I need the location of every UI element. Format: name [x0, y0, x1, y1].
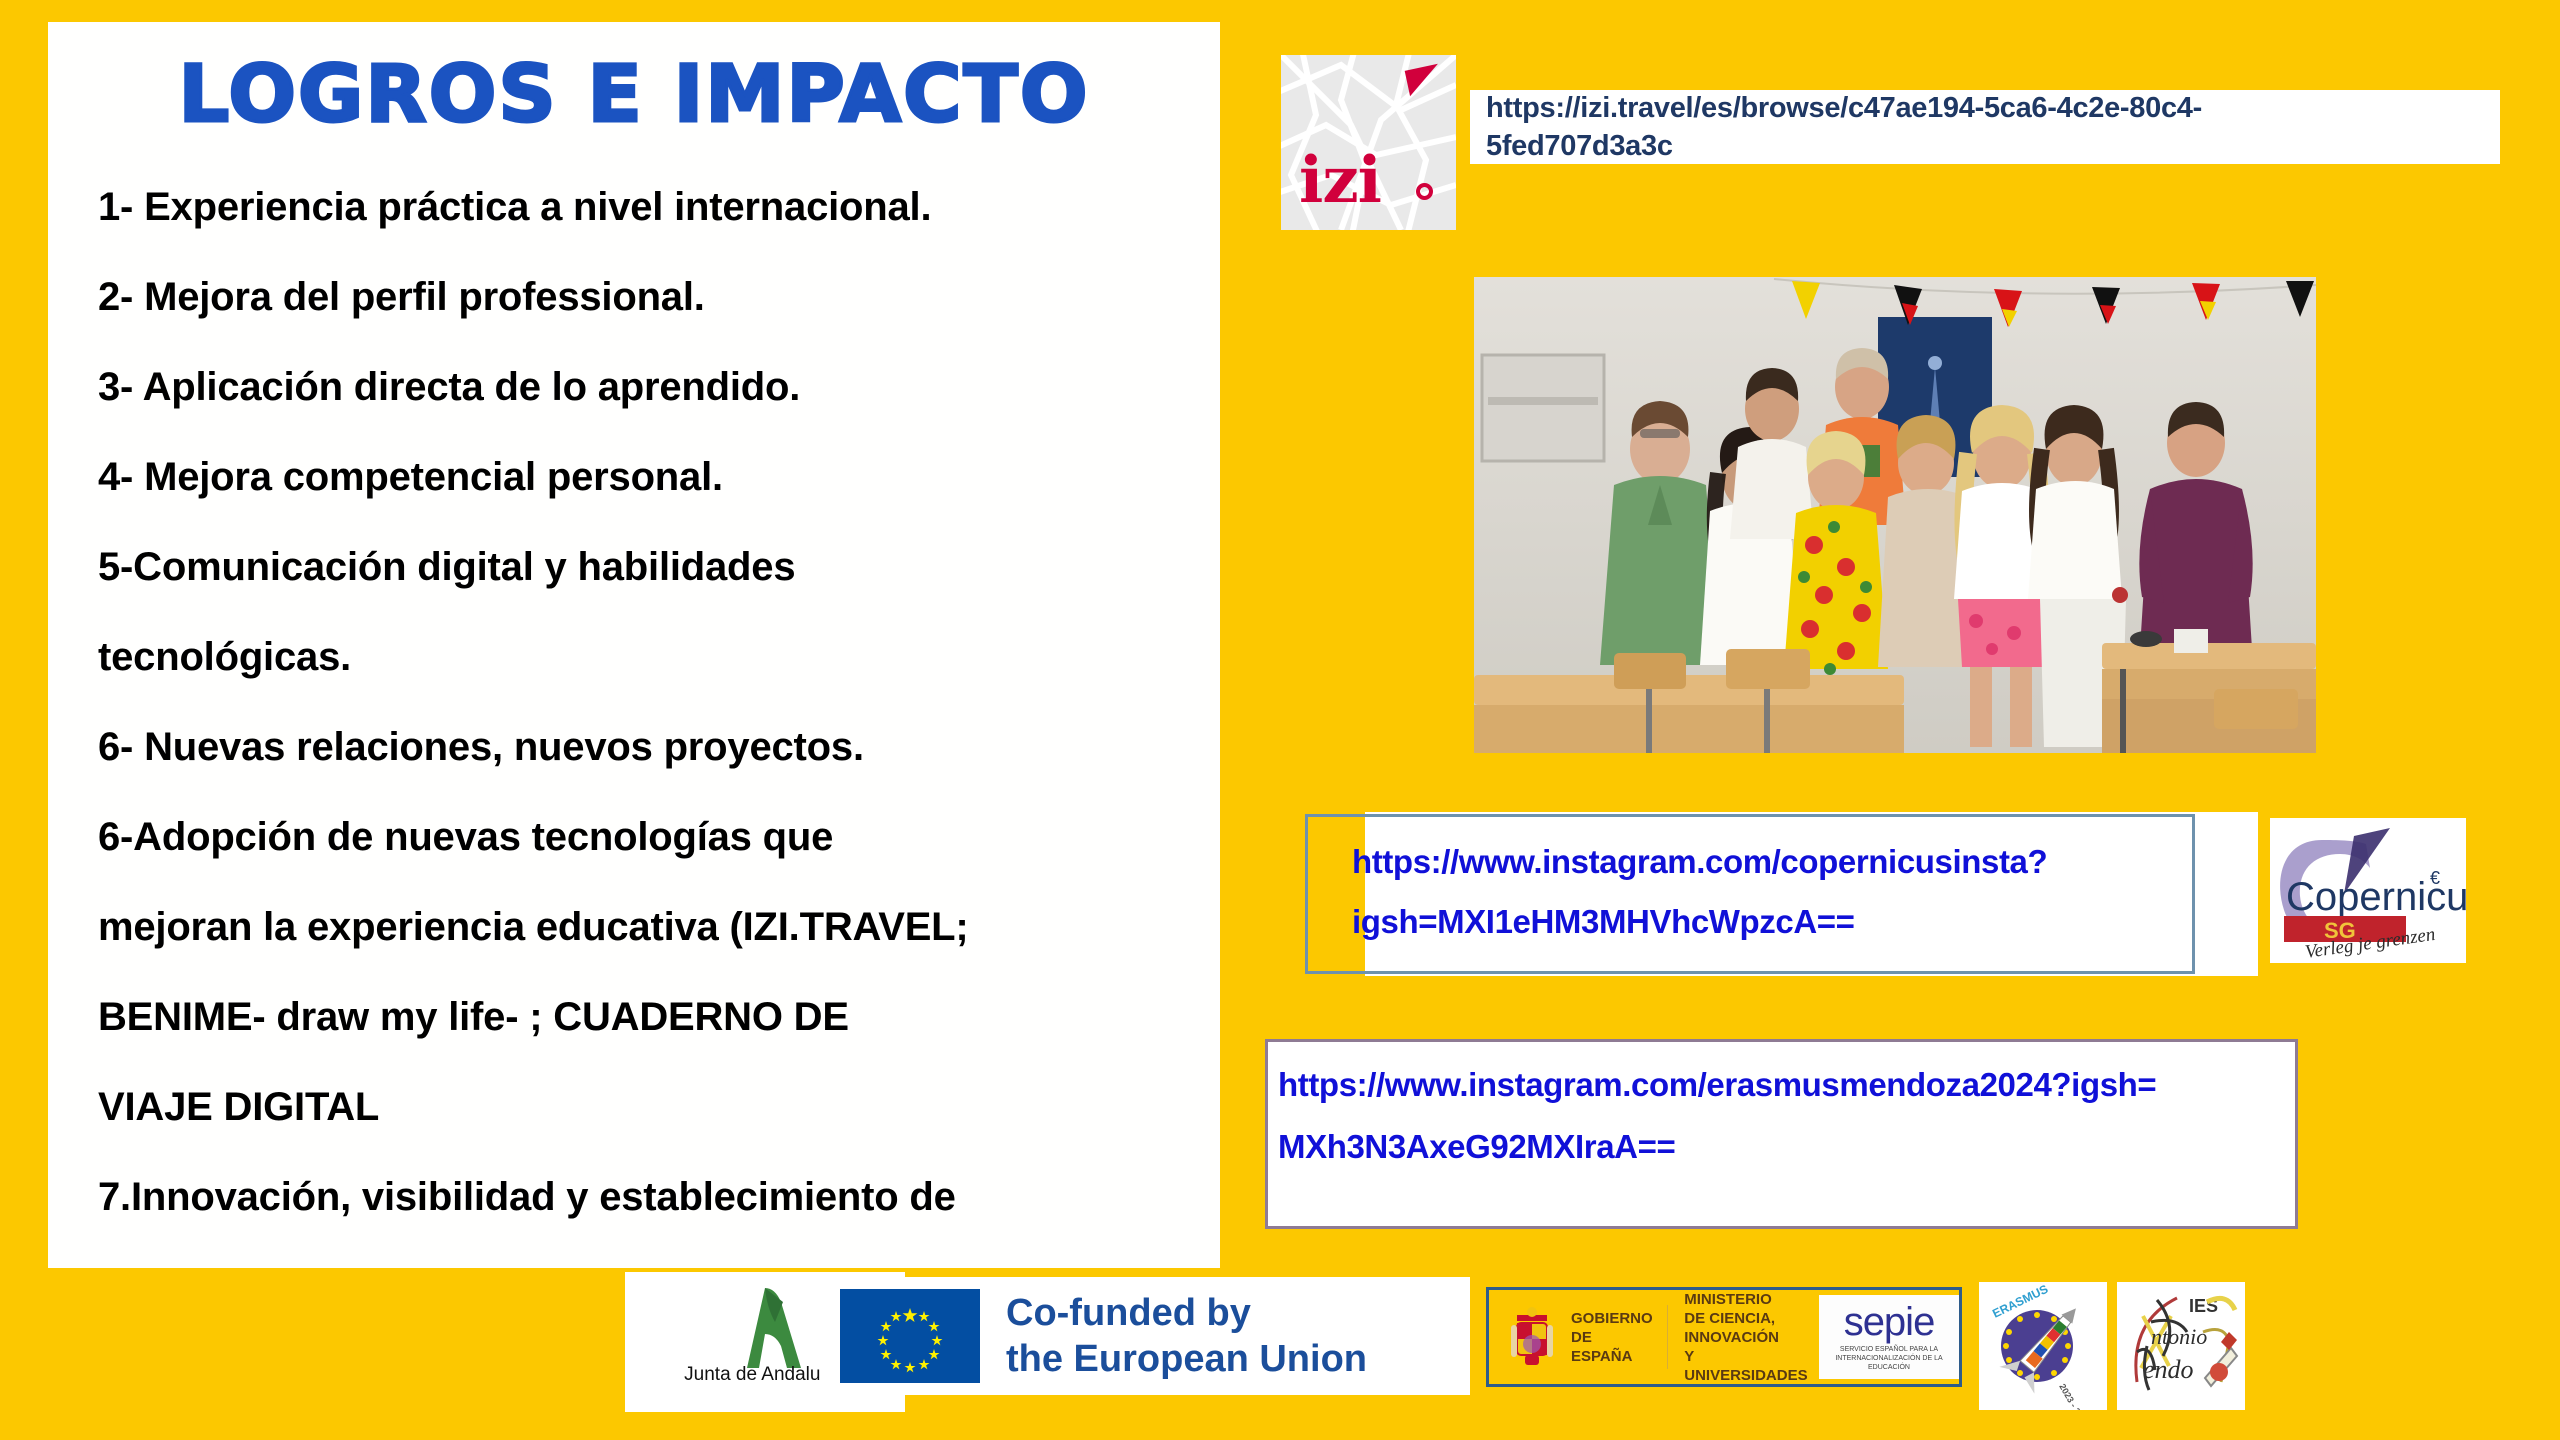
- sepie-wordmark: sepie: [1844, 1303, 1935, 1341]
- copernicus-logo: Copernicus € SG Verleg je grenzen: [2270, 818, 2466, 963]
- group-photo: [1474, 277, 2316, 753]
- list-item: redes que facilitan vínculos educativos.: [98, 1242, 1218, 1268]
- page-title: LOGROS E IMPACTO: [48, 56, 1220, 134]
- gobierno-line-2: DE ESPAÑA: [1571, 1328, 1653, 1366]
- list-item: 7.Innovación, visibilidad y establecimie…: [98, 1152, 1218, 1242]
- content-panel: LOGROS E IMPACTO 1- Experiencia práctica…: [48, 22, 1220, 1268]
- izi-url-text[interactable]: https://izi.travel/es/browse/c47ae194-5c…: [1470, 89, 2218, 165]
- gobierno-line-1: GOBIERNO: [1571, 1309, 1653, 1328]
- izi-travel-logo-icon: izi: [1281, 55, 1456, 230]
- list-item: 3- Aplicación directa de lo aprendido.: [98, 342, 1218, 432]
- eu-cofunded-line-1: Co-funded by: [1006, 1290, 1367, 1336]
- svg-text:ntonio: ntonio: [2151, 1324, 2207, 1349]
- slide-canvas: LOGROS E IMPACTO 1- Experiencia práctica…: [0, 0, 2560, 1440]
- erasmus-project-logo: ERASMUS 2023 - 2027: [1979, 1282, 2107, 1410]
- ministerio-line-3: Y UNIVERSIDADES: [1684, 1347, 1809, 1385]
- list-item: 1- Experiencia práctica a nivel internac…: [98, 162, 1218, 252]
- eu-flag-icon: [840, 1289, 980, 1383]
- list-item: 4- Mejora competencial personal.: [98, 432, 1218, 522]
- gobierno-label: GOBIERNO DE ESPAÑA: [1571, 1309, 1653, 1366]
- eu-cofunded-logo: Co-funded by the European Union: [820, 1277, 1470, 1395]
- achievements-list: 1- Experiencia práctica a nivel internac…: [98, 162, 1218, 1268]
- ministerio-line-1: MINISTERIO: [1684, 1290, 1809, 1309]
- instagram-erasmus-url-line-1: https://www.instagram.com/erasmusmendoza…: [1278, 1054, 2298, 1116]
- gobierno-ministerio-sepie-logo: GOBIERNO DE ESPAÑA MINISTERIO DE CIENCIA…: [1486, 1287, 1962, 1387]
- spain-coat-of-arms-icon: [1505, 1305, 1559, 1369]
- list-item: tecnológicas.: [98, 612, 1218, 702]
- izi-url-line-1: https://izi.travel/es/browse/c47ae194-5c…: [1486, 92, 2202, 124]
- instagram-erasmus-url[interactable]: https://www.instagram.com/erasmusmendoza…: [1278, 1054, 2298, 1178]
- footer-divider: [1667, 1305, 1669, 1369]
- instagram-copernicus-url-line-1: https://www.instagram.com/copernicusinst…: [1352, 832, 2252, 892]
- instagram-copernicus-url[interactable]: https://www.instagram.com/copernicusinst…: [1352, 832, 2252, 952]
- izi-wordmark: izi: [1299, 143, 1381, 218]
- ies-antonio-mendoza-logo: IES ntonio endo: [2117, 1282, 2245, 1410]
- list-item: VIAJE DIGITAL: [98, 1062, 1218, 1152]
- izi-url-line-2: 5fed707d3a3c: [1486, 130, 1673, 162]
- list-item: 6- Nuevas relaciones, nuevos proyectos.: [98, 702, 1218, 792]
- svg-text:€: €: [2430, 868, 2440, 888]
- izi-url-box[interactable]: https://izi.travel/es/browse/c47ae194-5c…: [1470, 90, 2500, 164]
- sepie-logo: sepie SERVICIO ESPAÑOL PARA LA INTERNACI…: [1819, 1295, 1959, 1379]
- svg-text:endo: endo: [2143, 1355, 2194, 1384]
- list-item: 5-Comunicación digital y habilidades: [98, 522, 1218, 612]
- list-item: BENIME- draw my life- ; CUADERNO DE: [98, 972, 1218, 1062]
- izi-dot-icon: [1416, 183, 1433, 200]
- instagram-erasmus-url-line-2: MXh3N3AxeG92MXIraA==: [1278, 1116, 2298, 1178]
- list-item: mejoran la experiencia educativa (IZI.TR…: [98, 882, 1218, 972]
- eu-cofunded-line-2: the European Union: [1006, 1336, 1367, 1382]
- eu-cofunded-text: Co-funded by the European Union: [1006, 1290, 1367, 1382]
- list-item: 6-Adopción de nuevas tecnologías que: [98, 792, 1218, 882]
- ministerio-line-2: DE CIENCIA, INNOVACIÓN: [1684, 1309, 1809, 1347]
- sepie-tagline: SERVICIO ESPAÑOL PARA LA INTERNACIONALIZ…: [1829, 1345, 1949, 1372]
- ministerio-label: MINISTERIO DE CIENCIA, INNOVACIÓN Y UNIV…: [1684, 1290, 1809, 1385]
- list-item: 2- Mejora del perfil professional.: [98, 252, 1218, 342]
- instagram-copernicus-url-line-2: igsh=MXI1eHM3MHVhcWpzcA==: [1352, 892, 2252, 952]
